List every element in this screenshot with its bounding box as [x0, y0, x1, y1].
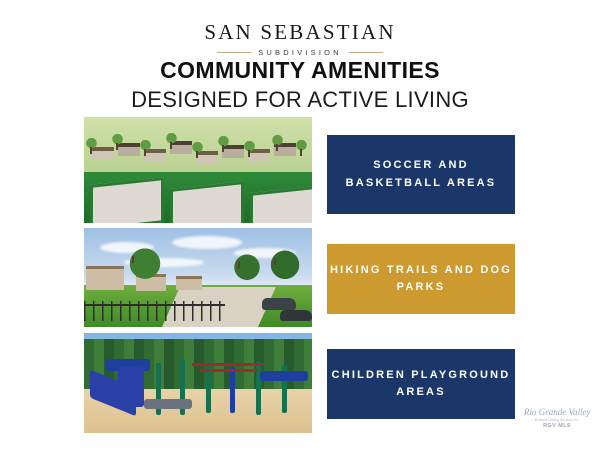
watermark-tagline: Multiple Listing Service Inc.: [524, 418, 590, 422]
brand-subtitle: SUBDIVISION: [258, 48, 342, 57]
playground-tower: [118, 367, 144, 407]
park-building: [86, 266, 124, 290]
amenity-row-hiking-dog-parks: HIKING TRAILS AND DOG PARKS: [0, 228, 600, 327]
amenity-row-children-playground: CHILDREN PLAYGROUND AREAS: [0, 333, 600, 433]
playground-bridge: [144, 399, 192, 409]
amenity-image-children-playground: [84, 333, 312, 433]
sports-court: [170, 181, 244, 223]
mls-watermark: Rio Grande Valley Multiple Listing Servi…: [524, 408, 590, 442]
sports-court: [90, 177, 164, 223]
amenity-banner-soccer-basketball: SOCCER AND BASKETBALL AREAS: [327, 135, 515, 214]
parked-car: [262, 298, 296, 310]
aerial-house-row: [84, 131, 312, 173]
watermark-script: Rio Grande Valley: [524, 408, 590, 417]
brand-name: SAN SEBASTIAN: [0, 22, 600, 43]
amenity-banner-children-playground: CHILDREN PLAYGROUND AREAS: [327, 349, 515, 419]
brand-rule-left: [217, 52, 251, 53]
amenity-image-hiking-dog-parks: [84, 228, 312, 327]
headline-secondary: DESIGNED FOR ACTIVE LIVING: [0, 86, 600, 114]
park-building: [176, 276, 202, 290]
brand-subtitle-row: SUBDIVISION: [0, 48, 600, 57]
brand-rule-right: [349, 52, 383, 53]
parked-car: [280, 310, 312, 321]
amenity-banner-hiking-dog-parks: HIKING TRAILS AND DOG PARKS: [327, 244, 515, 314]
watermark-mls-label: RGV MLS: [524, 423, 590, 429]
headline-primary: COMMUNITY AMENITIES: [0, 57, 600, 85]
amenity-row-soccer-basketball: SOCCER AND BASKETBALL AREAS: [0, 117, 600, 223]
park-fence: [84, 301, 225, 321]
brand-logo: SAN SEBASTIAN SUBDIVISION: [0, 22, 600, 57]
page-title: COMMUNITY AMENITIES DESIGNED FOR ACTIVE …: [0, 57, 600, 113]
amenity-image-soccer-basketball: [84, 117, 312, 223]
